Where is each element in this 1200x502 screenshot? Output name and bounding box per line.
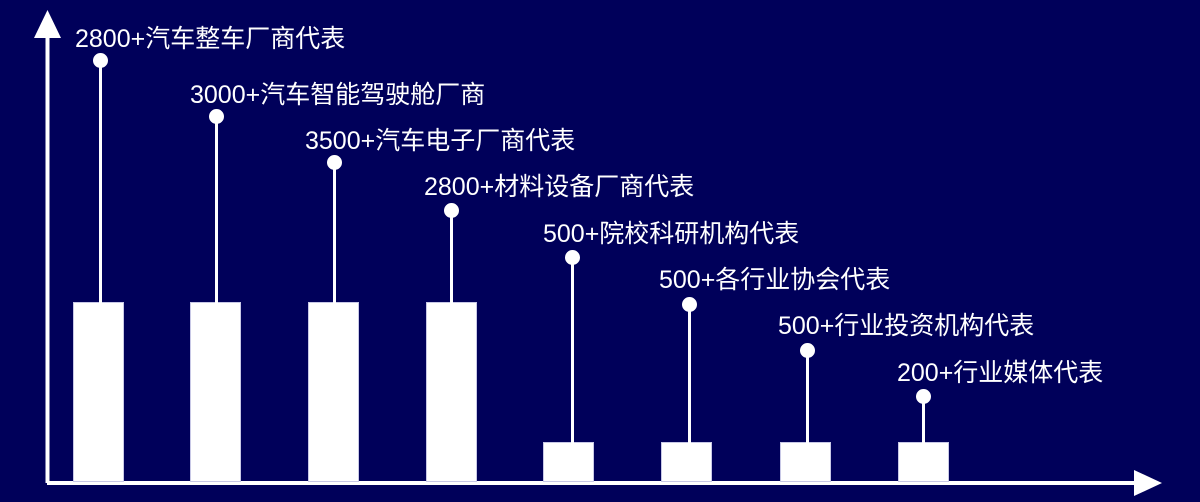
callout-stem-6 — [688, 308, 691, 444]
callout-dot-5 — [565, 250, 580, 265]
callout-dot-7 — [800, 343, 815, 358]
callout-dot-8 — [916, 389, 931, 404]
callout-label-7: 500+行业投资机构代表 — [778, 311, 1034, 341]
callout-stem-7 — [806, 354, 809, 444]
callout-dot-1 — [93, 53, 108, 68]
callout-dot-4 — [444, 203, 459, 218]
callout-dot-3 — [327, 155, 342, 170]
x-axis-arrow-right-icon — [1134, 470, 1162, 496]
callout-stem-2 — [215, 120, 218, 304]
bar-3 — [308, 302, 359, 482]
callout-label-3: 3500+汽车电子厂商代表 — [305, 126, 575, 156]
callout-label-1: 2800+汽车整车厂商代表 — [75, 24, 345, 54]
bar-6 — [661, 442, 712, 482]
callout-stem-3 — [333, 166, 336, 304]
callout-label-8: 200+行业媒体代表 — [897, 358, 1103, 388]
callout-label-5: 500+院校科研机构代表 — [543, 219, 799, 249]
callout-stem-5 — [571, 261, 574, 444]
callout-label-4: 2800+材料设备厂商代表 — [424, 172, 694, 202]
callout-stem-4 — [450, 214, 453, 304]
y-axis-arrow-up-icon — [34, 10, 61, 38]
bar-chart: 2800+汽车整车厂商代表3000+汽车智能驾驶舱厂商3500+汽车电子厂商代表… — [0, 0, 1200, 502]
callout-label-2: 3000+汽车智能驾驶舱厂商 — [190, 80, 485, 110]
callout-label-6: 500+各行业协会代表 — [659, 265, 890, 295]
bar-7 — [780, 442, 831, 482]
callout-dot-6 — [682, 297, 697, 312]
bar-2 — [190, 302, 241, 482]
chart-axes — [0, 0, 1200, 502]
bar-5 — [543, 442, 594, 482]
callout-stem-8 — [922, 400, 925, 444]
callout-stem-1 — [99, 64, 102, 304]
callout-dot-2 — [209, 109, 224, 124]
bar-4 — [426, 302, 477, 482]
bar-8 — [898, 442, 949, 482]
bar-1 — [73, 302, 124, 482]
